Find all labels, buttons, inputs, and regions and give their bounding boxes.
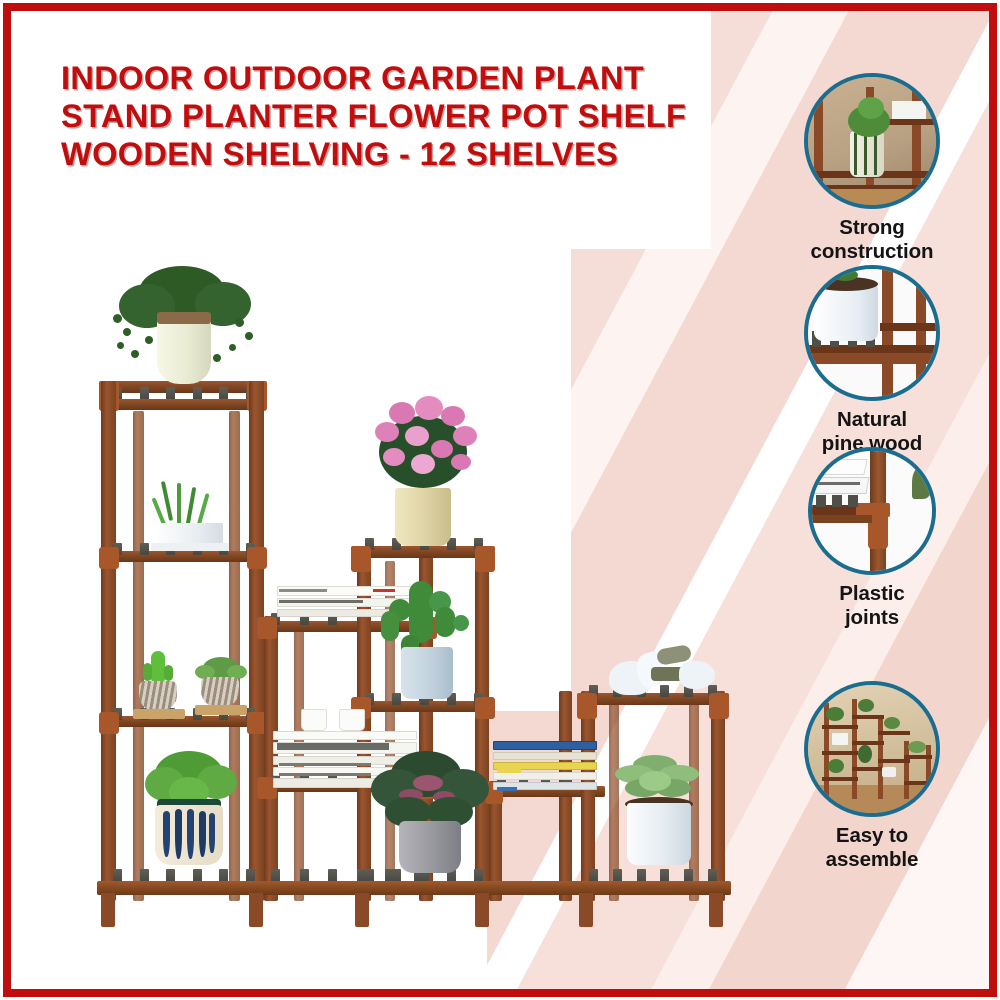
feature-strong-construction: Strong construction xyxy=(769,73,975,259)
leg-foot xyxy=(579,893,593,927)
decor-sculpture xyxy=(609,647,719,695)
product-illustration xyxy=(89,261,769,921)
feature-label: Plastic joints xyxy=(769,582,975,630)
leg-foot xyxy=(709,893,723,927)
book xyxy=(273,731,417,740)
plastic-joint xyxy=(577,693,597,719)
plastic-joint xyxy=(257,617,277,639)
plastic-joint xyxy=(475,697,495,719)
product-title: INDOOR OUTDOOR GARDEN PLANT STAND PLANTE… xyxy=(61,59,761,173)
pink-flower-plant xyxy=(365,396,481,548)
plastic-joint xyxy=(99,547,119,569)
bordered-frame: INDOOR OUTDOOR GARDEN PLANT STAND PLANTE… xyxy=(3,3,997,997)
book-stack-colored xyxy=(493,741,597,792)
feature-easy-to-assemble: Easy to assemble xyxy=(769,681,975,871)
small-cactus-plant xyxy=(131,651,185,717)
book xyxy=(493,741,597,750)
plastic-joint xyxy=(351,546,371,572)
page-root: INDOOR OUTDOOR GARDEN PLANT STAND PLANTE… xyxy=(0,0,1000,1000)
feature-label: Easy to assemble xyxy=(769,824,975,872)
full-shelf-room-scene-photo-icon xyxy=(804,681,940,817)
leg-foot xyxy=(355,893,369,927)
title-line-2: STAND PLANTER FLOWER POT SHELF xyxy=(61,97,761,135)
green-leafy-plant xyxy=(139,751,243,871)
vertical-post xyxy=(101,381,116,901)
feature-callout-list: Strong construction xyxy=(769,73,975,877)
burgundy-foliage-plant xyxy=(365,751,495,879)
book xyxy=(493,752,597,760)
plastic-joint xyxy=(709,693,729,719)
vertical-post xyxy=(249,381,264,901)
grass-plant xyxy=(147,481,233,553)
trailing-ivy-plant xyxy=(109,266,259,386)
title-line-1: INDOOR OUTDOOR GARDEN PLANT xyxy=(61,59,761,97)
feature-plastic-joints: Plastic joints xyxy=(769,447,975,675)
succulent-plant xyxy=(193,657,249,717)
aloe-succulent-plant xyxy=(611,753,707,877)
shelf-rail xyxy=(99,399,267,410)
base-rail xyxy=(97,881,731,895)
plastic-joint xyxy=(475,546,495,572)
leg-foot xyxy=(475,893,489,927)
leg-foot xyxy=(249,893,263,927)
leg-foot xyxy=(101,893,115,927)
feature-label: Strong construction xyxy=(769,216,975,264)
plastic-joint xyxy=(247,547,267,569)
title-line-3: WOODEN SHELVING - 12 SHELVES xyxy=(61,135,761,173)
plastic-joint xyxy=(99,712,119,734)
book xyxy=(493,772,597,780)
joint-connector-closeup-photo-icon xyxy=(808,447,936,575)
plant-stand-closeup-photo-icon xyxy=(804,73,940,209)
feature-natural-pine-wood: Natural pine wood xyxy=(769,265,975,441)
white-pot-on-slats-photo-icon xyxy=(804,265,940,401)
cactus-plant xyxy=(373,581,473,703)
